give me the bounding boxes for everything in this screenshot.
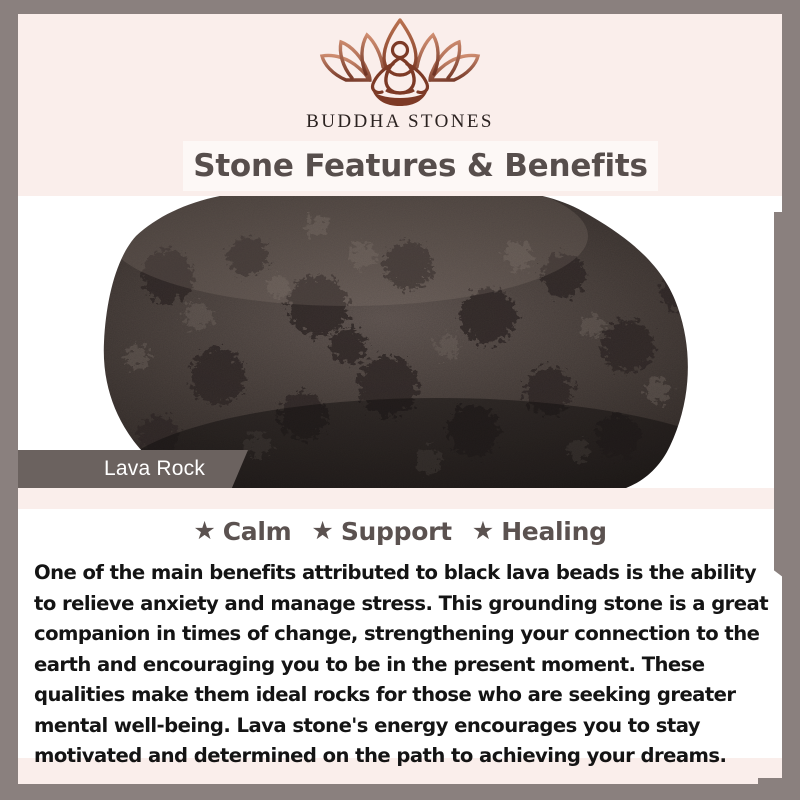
frame-nib-left [0, 186, 18, 204]
infographic-root: BUDDHA STONES [0, 0, 800, 800]
frame-nib-right-upper [774, 212, 800, 542]
benefit-item-healing: ★ Healing [472, 517, 607, 546]
frame-band-left [0, 200, 18, 800]
benefit-item-support: ★ Support [311, 517, 451, 546]
brand-name: BUDDHA STONES [306, 111, 494, 133]
brand-logo-group: BUDDHA STONES [18, 14, 782, 133]
body-paragraph: One of the main benefits attributed to b… [34, 558, 774, 772]
frame-band-right [782, 0, 800, 222]
lava-rock-photo [18, 196, 782, 488]
frame-band-bottom [0, 784, 760, 800]
benefit-label: Calm [223, 517, 292, 546]
lotus-meditation-logo-icon [316, 14, 484, 108]
photo-caption-label: Lava Rock [104, 457, 205, 481]
star-icon: ★ [193, 519, 215, 544]
star-icon: ★ [311, 519, 333, 544]
benefits-row: ★ Calm ★ Support ★ Healing [18, 517, 782, 546]
benefit-item-calm: ★ Calm [193, 517, 291, 546]
benefit-label: Healing [501, 517, 606, 546]
content-card: BUDDHA STONES [18, 0, 782, 784]
frame-nib-bottom-right [758, 778, 800, 800]
title-band: Stone Features & Benefits [183, 141, 658, 191]
frame-band-top [0, 0, 800, 14]
photo-caption-bar: Lava Rock [18, 450, 248, 488]
page-title: Stone Features & Benefits [193, 148, 648, 184]
cream-divider-strip [18, 488, 782, 509]
benefit-label: Support [341, 517, 452, 546]
star-icon: ★ [472, 519, 494, 544]
